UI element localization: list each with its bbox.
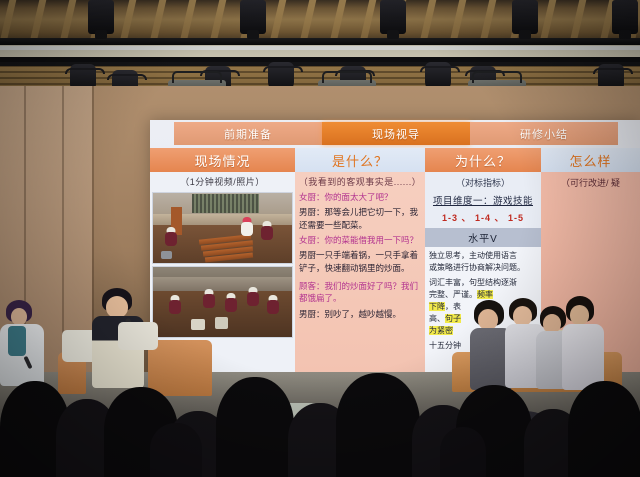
lighting-bar: [0, 62, 640, 66]
column-header-why: 为什么？: [425, 148, 541, 172]
dialogue-speaker: 男厨: [299, 207, 316, 217]
slide-tab-preparation[interactable]: 前期准备: [174, 122, 322, 145]
photo-person: [163, 227, 179, 249]
slide-photo-digging: [152, 266, 293, 338]
dialogue-speaker: 女厨: [299, 192, 316, 202]
stage-chair-center: [148, 340, 212, 396]
audience-head: [440, 427, 486, 477]
ceiling-spotlight: [240, 0, 266, 34]
ceiling-spotlight: [612, 0, 638, 34]
level-highlight: 句子: [445, 314, 461, 323]
indicator-level-header: 水平V: [425, 228, 541, 247]
level-highlight: 下降: [429, 302, 445, 311]
level-line: 完整、严谨。: [429, 290, 477, 299]
chair-cushion: [118, 322, 158, 350]
column-what-subtitle: （我看到的客观事实是......）: [295, 172, 425, 190]
column-header-what: 是什么？: [295, 148, 425, 172]
audience-head: [150, 423, 202, 477]
photo-person: [259, 221, 275, 243]
column-why-subtitle: （对标指标）: [425, 172, 541, 191]
photo-person: [223, 293, 239, 317]
dialogue-text: 你的面太大了吧？: [325, 192, 393, 202]
slide-tab-onsite-guidance[interactable]: 现场视导: [322, 122, 470, 145]
ceiling-spotlight: [380, 0, 406, 34]
column-how-subtitle: （可行改进/ 疑: [541, 172, 640, 193]
screenshot-root: 前期准备 现场视导 研修小结 现场情况 是什么？ 为什么？ 怎么样 （1分钟视频…: [0, 0, 640, 477]
photo-person: [239, 217, 255, 237]
column-situation-subtitle: （1分钟视频/照片）: [150, 172, 295, 190]
slide-tab-row: 前期准备 现场视导 研修小结: [150, 120, 640, 146]
dialogue-transcript: 女厨：你的面太大了吧？ 男厨：那等会儿把它切一下，我还需要一些配菜。 女厨：你的…: [295, 190, 425, 320]
level-line: 独立思考，主动使用语言: [429, 250, 537, 262]
dialogue-speaker: 女厨: [299, 235, 316, 245]
photo-person: [265, 295, 281, 317]
indicator-codes: 1-3 、 1-4 、 1-5: [425, 209, 541, 228]
slide-tab-summary[interactable]: 研修小结: [470, 122, 618, 145]
audience-head: [568, 381, 640, 477]
lighting-truss-highlight: [0, 46, 640, 50]
ceiling-spotlight: [512, 0, 538, 34]
level-line: 词汇丰富，句型结构逐渐: [429, 277, 537, 289]
slide-photo-planks: [152, 192, 293, 264]
dialogue-text: 你的菜能借我用一下吗？: [325, 235, 419, 245]
column-header-situation: 现场情况: [150, 148, 295, 172]
dialogue-text: 男厨一只手端着锅，一只手拿着铲子，快速翻动锅里的炒面。: [299, 250, 418, 272]
lighting-truss-main: [0, 38, 640, 45]
slide-column-headers: 现场情况 是什么？ 为什么？ 怎么样: [150, 148, 640, 172]
dialogue-speaker: 男厨: [299, 309, 316, 319]
dialogue-speaker: 顾客: [299, 281, 316, 291]
photo-person: [167, 295, 183, 319]
photo-person: [245, 287, 261, 313]
photo-person: [201, 289, 217, 313]
level-line: 或策略进行协商解决问题。: [429, 262, 537, 274]
audience-head: [216, 377, 294, 477]
ceiling-spotlight: [88, 0, 114, 34]
level-highlight: 频率: [477, 290, 493, 299]
column-what: （我看到的客观事实是......） 女厨：你的面太大了吧？ 男厨：那等会儿把它切…: [295, 172, 425, 372]
level-highlight: 为紧密: [429, 326, 453, 335]
dialogue-text: 别吵了，越吵越慢。: [325, 309, 402, 319]
audience-head: [336, 373, 420, 477]
column-header-how: 怎么样: [541, 148, 640, 172]
indicator-dimension: 项目维度一：游戏技能: [425, 191, 541, 209]
